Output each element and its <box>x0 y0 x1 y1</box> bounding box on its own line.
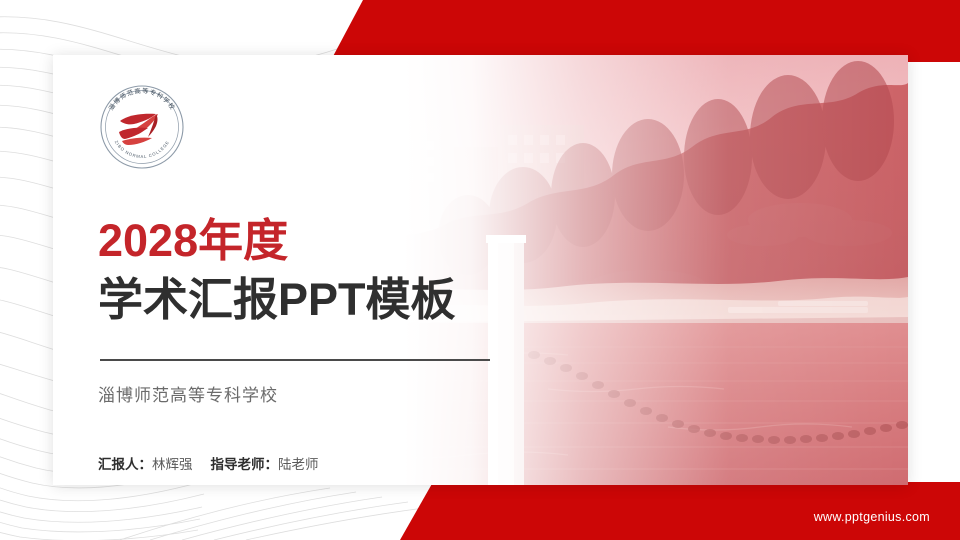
reporter-name: 林辉强 <box>152 457 193 472</box>
title-year: 2028年度 <box>98 218 288 263</box>
reporter-label: 汇报人： <box>98 457 152 472</box>
college-seal-logo: 淄博师范高等专科学校 ZIBO NORMAL COLLEGE <box>98 83 186 171</box>
title-divider <box>100 359 490 361</box>
card-content: 淄博师范高等专科学校 ZIBO NORMAL COLLEGE <box>53 55 523 485</box>
footer-website-url[interactable]: www.pptgenius.com <box>814 510 930 524</box>
title-main: 学术汇报PPT模板 <box>98 277 456 322</box>
advisor-label: 指导老师： <box>211 457 279 472</box>
advisor-name: 陆老师 <box>278 457 319 472</box>
school-name: 淄博师范高等专科学校 <box>98 381 278 406</box>
slide-card: 淄博师范高等专科学校 ZIBO NORMAL COLLEGE <box>53 55 908 485</box>
presenter-line: 汇报人：林辉强指导老师：陆老师 <box>98 453 319 473</box>
presentation-slide: 淄博师范高等专科学校 ZIBO NORMAL COLLEGE <box>0 0 960 540</box>
